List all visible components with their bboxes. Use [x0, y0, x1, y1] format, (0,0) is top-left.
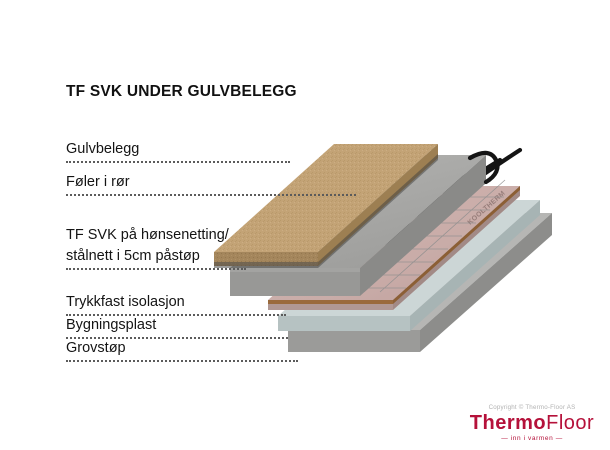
label-grovstop: Grovstøp	[66, 338, 126, 358]
layer-screed	[230, 155, 486, 296]
copyright-text: Copyright © Thermo-Floor AS	[462, 404, 602, 411]
sensor-in-conduit	[341, 170, 474, 261]
wordmark-thermo: Thermo	[470, 412, 546, 434]
diagram-page: TF SVK UNDER GULVBELEGG	[0, 0, 610, 450]
label-bygningsplast: Bygningsplast	[66, 315, 156, 335]
page-title: TF SVK UNDER GULVBELEGG	[66, 83, 297, 101]
leader-foler-i-ror	[66, 194, 356, 196]
heating-cable-over-edge	[470, 153, 498, 182]
label-gulvbelegg: Gulvbelegg	[66, 139, 139, 159]
wordmark: ThermoFloor	[462, 413, 602, 433]
label-tf-svk-line1: TF SVK på hønsenetting/	[66, 225, 229, 245]
layer-building-plastic	[278, 200, 540, 331]
label-trykkfast-isolasjon: Trykkfast isolasjon	[66, 292, 185, 312]
label-tf-svk-line2: stålnett i 5cm påstøp	[66, 246, 200, 266]
board-print-text: KOOLTHERM K102220017	[347, 203, 443, 290]
wordmark-floor: Floor	[546, 412, 594, 434]
leader-tf-svk	[66, 268, 246, 270]
layer-insulation: KOOLTHERM K102220017 KOOLTHERM	[268, 150, 520, 310]
label-foler-i-ror: Føler i rør	[66, 172, 130, 192]
heating-cable-return	[348, 150, 520, 268]
layer-rough-concrete	[288, 213, 552, 352]
brand-logo: Copyright © Thermo-Floor AS ThermoFloor …	[462, 404, 602, 442]
reinforcement-mesh	[281, 180, 505, 292]
heating-cable	[298, 160, 500, 280]
sensor-tip	[341, 254, 352, 261]
leader-gulvbelegg	[66, 161, 290, 163]
board-print-text-secondary: KOOLTHERM	[467, 190, 507, 227]
tagline: — inn i varmen —	[462, 435, 602, 442]
leader-grovstop	[66, 360, 298, 362]
